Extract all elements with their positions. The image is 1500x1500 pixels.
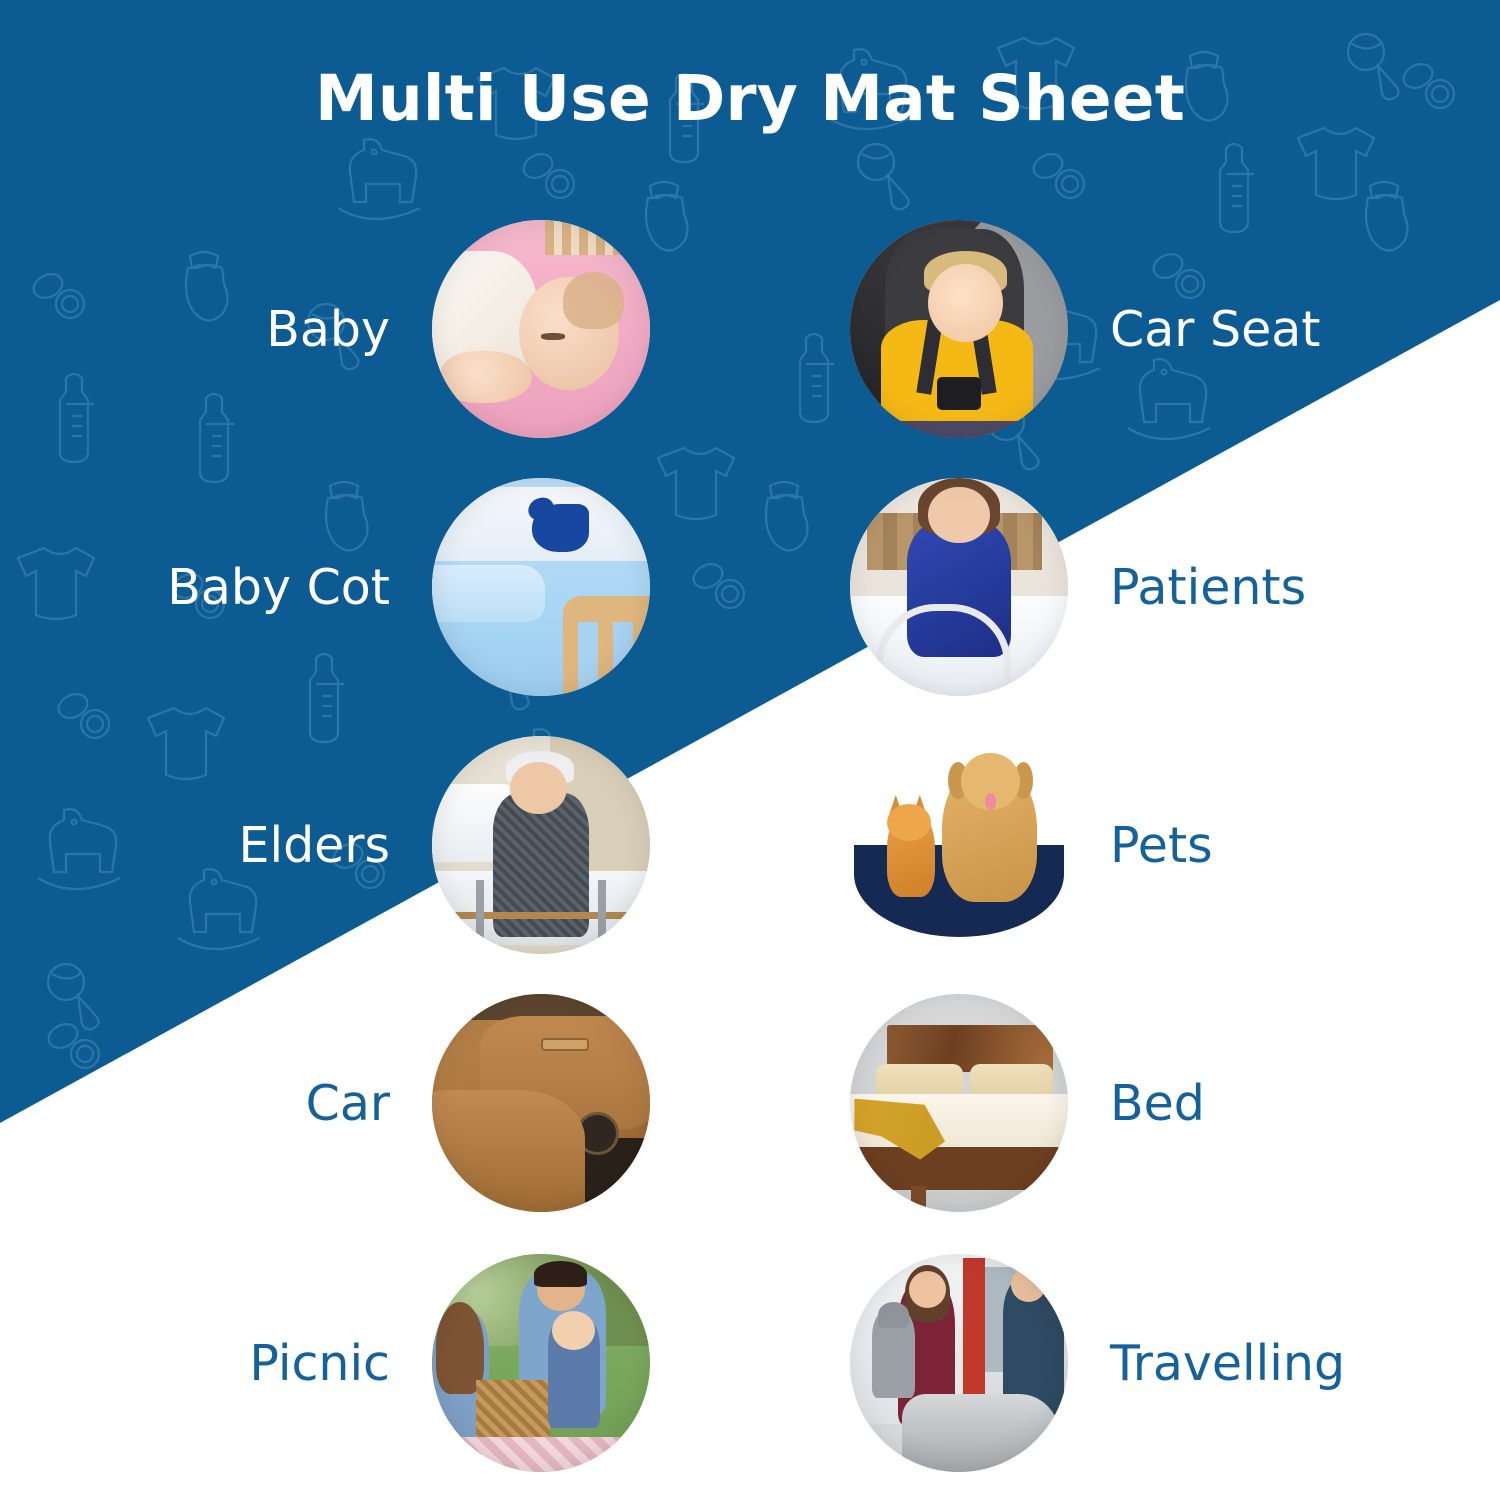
- use-case-item-elders: Elders: [0, 716, 750, 974]
- use-case-item-patients: Patients: [750, 458, 1500, 716]
- use-case-label: Picnic: [249, 1339, 390, 1388]
- use-case-label: Car Seat: [1110, 305, 1320, 354]
- use-case-item-bed: Bed: [750, 974, 1500, 1232]
- use-case-item-car: Car: [0, 974, 750, 1232]
- use-case-label: Elders: [239, 821, 391, 870]
- use-case-row: Baby Car Se: [0, 200, 1500, 458]
- use-case-row: Picnic: [0, 1232, 1500, 1494]
- use-case-image-pets: [850, 736, 1068, 954]
- use-case-item-picnic: Picnic: [0, 1232, 750, 1494]
- use-case-image-baby-cot: [432, 478, 650, 696]
- use-case-image-baby: [432, 220, 650, 438]
- use-case-row: Car Bed: [0, 974, 1500, 1232]
- use-case-item-baby-cot: Baby Cot: [0, 458, 750, 716]
- use-case-item-baby: Baby: [0, 200, 750, 458]
- use-case-row: Elders: [0, 716, 1500, 974]
- use-case-label: Patients: [1110, 563, 1306, 612]
- use-case-label: Travelling: [1110, 1339, 1345, 1388]
- use-case-item-pets: Pets: [750, 716, 1500, 974]
- use-case-image-elders: [432, 736, 650, 954]
- use-case-item-car-seat: Car Seat: [750, 200, 1500, 458]
- use-case-image-bed: [850, 994, 1068, 1212]
- use-case-image-patients: [850, 478, 1068, 696]
- use-case-label: Bed: [1110, 1079, 1205, 1128]
- use-case-label: Car: [306, 1079, 390, 1128]
- use-case-image-car: [432, 994, 650, 1212]
- use-case-label: Baby: [266, 305, 390, 354]
- product-infographic: Multi Use Dry Mat Sheet Baby: [0, 0, 1500, 1500]
- use-case-grid: Baby Car Se: [0, 200, 1500, 1494]
- use-case-image-travelling: [850, 1254, 1068, 1472]
- use-case-image-picnic: [432, 1254, 650, 1472]
- use-case-image-car-seat: [850, 220, 1068, 438]
- use-case-label: Baby Cot: [167, 563, 390, 612]
- use-case-label: Pets: [1110, 821, 1213, 870]
- use-case-item-travelling: Travelling: [750, 1232, 1500, 1494]
- use-case-row: Baby Cot: [0, 458, 1500, 716]
- page-title: Multi Use Dry Mat Sheet: [0, 62, 1500, 135]
